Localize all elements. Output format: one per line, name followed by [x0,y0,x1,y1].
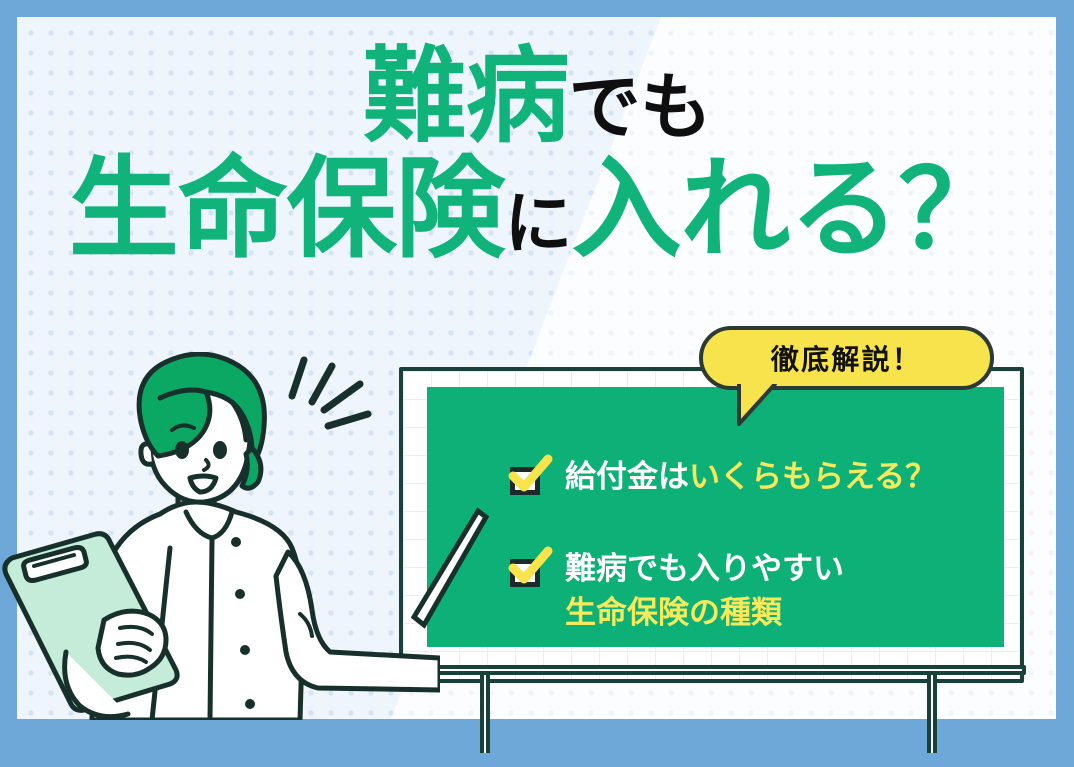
headline-line2-question: ？ [898,148,1005,273]
headline-line2-main2: 入れる [572,145,899,273]
checkbox-checked-icon [509,553,545,587]
callout-bubble: 徹底解説！ [699,326,994,390]
list-item-text-plain: 給付金は [565,459,689,495]
list-item-text: 難病でも入りやすい 生命保険の種類 [565,547,844,635]
whiteboard-surface: 給付金はいくらもらえる？ 難病でも入りやすい 生命保険の種類 [427,387,1004,647]
whiteboard-checklist: 給付金はいくらもらえる？ 難病でも入りやすい 生命保険の種類 [509,455,1029,635]
headline-line2-main: 生命保険 [69,145,505,273]
headline-line2-sub: に [504,185,571,264]
list-item-text-highlight: 生命保険の種類 [565,595,782,631]
whiteboard-leg-right [927,675,937,753]
headline-line1-sub: でも [569,65,712,149]
checkbox-checked-icon [509,461,545,495]
whiteboard-leg-left [480,675,490,753]
headline-line-2: 生命保険に入れる？ [0,154,1074,265]
avatar [0,352,440,720]
list-item-text-plain: 難病でも入りやすい [565,551,844,587]
callout-bubble-tail [735,384,781,428]
list-item-text: 給付金はいくらもらえる？ [565,455,936,499]
list-item: 難病でも入りやすい 生命保険の種類 [509,547,1029,635]
page-title: 難病でも 生命保険に入れる？ [0,44,1074,265]
banner-root: 難病でも 生命保険に入れる？ [0,0,1074,767]
list-item: 給付金はいくらもらえる？ [509,455,1029,499]
list-item-text-highlight: いくらもらえる？ [689,459,936,495]
callout-bubble-label: 徹底解説！ [771,338,922,378]
headline-line1-main: 難病 [363,35,569,157]
headline-line-1: 難病でも [0,44,1074,148]
